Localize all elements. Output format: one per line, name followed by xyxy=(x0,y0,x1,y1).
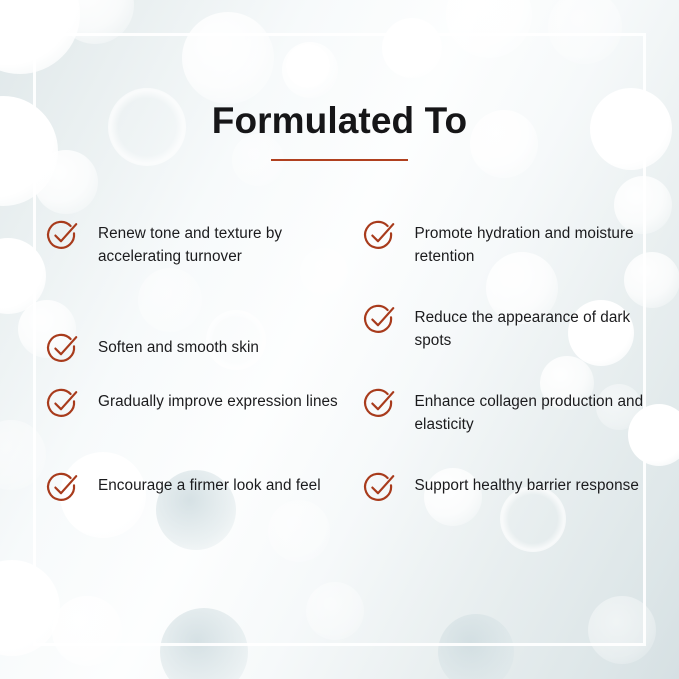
benefit-item: Enhance collagen production and elastici… xyxy=(363,390,652,474)
benefit-item: Support healthy barrier response xyxy=(363,474,652,558)
benefits-columns: Renew tone and texture by accelerating t… xyxy=(46,222,651,558)
check-circle-icon xyxy=(46,219,79,252)
formulated-to-infographic-panel: Formulated To Renew tone and texture by … xyxy=(0,0,679,679)
benefit-item: Gradually improve expression lines xyxy=(46,390,349,474)
benefits-column-right: Promote hydration and moisture retention… xyxy=(349,222,652,558)
check-circle-icon xyxy=(363,219,396,252)
check-circle-icon xyxy=(46,387,79,420)
benefit-text: Promote hydration and moisture retention xyxy=(396,222,652,268)
benefit-item: Promote hydration and moisture retention xyxy=(363,222,652,306)
benefit-text: Reduce the appearance of dark spots xyxy=(396,306,652,352)
benefit-text: Renew tone and texture by accelerating t… xyxy=(79,222,349,268)
check-circle-icon xyxy=(363,303,396,336)
title-underline-rule xyxy=(271,159,408,161)
benefit-item: Renew tone and texture by accelerating t… xyxy=(46,222,349,306)
title-block: Formulated To xyxy=(0,100,679,161)
benefit-item: Encourage a firmer look and feel xyxy=(46,474,349,558)
benefit-text: Encourage a firmer look and feel xyxy=(79,474,321,498)
check-circle-icon xyxy=(363,387,396,420)
page-title: Formulated To xyxy=(0,100,679,141)
benefits-column-left: Renew tone and texture by accelerating t… xyxy=(46,222,349,558)
benefit-text: Support healthy barrier response xyxy=(396,474,639,498)
benefit-text: Gradually improve expression lines xyxy=(79,390,338,414)
benefit-text: Enhance collagen production and elastici… xyxy=(396,390,652,436)
check-circle-icon xyxy=(363,471,396,504)
check-circle-icon xyxy=(46,332,79,365)
benefit-item: Soften and smooth skin xyxy=(46,306,349,390)
benefit-text: Soften and smooth skin xyxy=(79,337,259,360)
benefit-item: Reduce the appearance of dark spots xyxy=(363,306,652,390)
check-circle-icon xyxy=(46,471,79,504)
